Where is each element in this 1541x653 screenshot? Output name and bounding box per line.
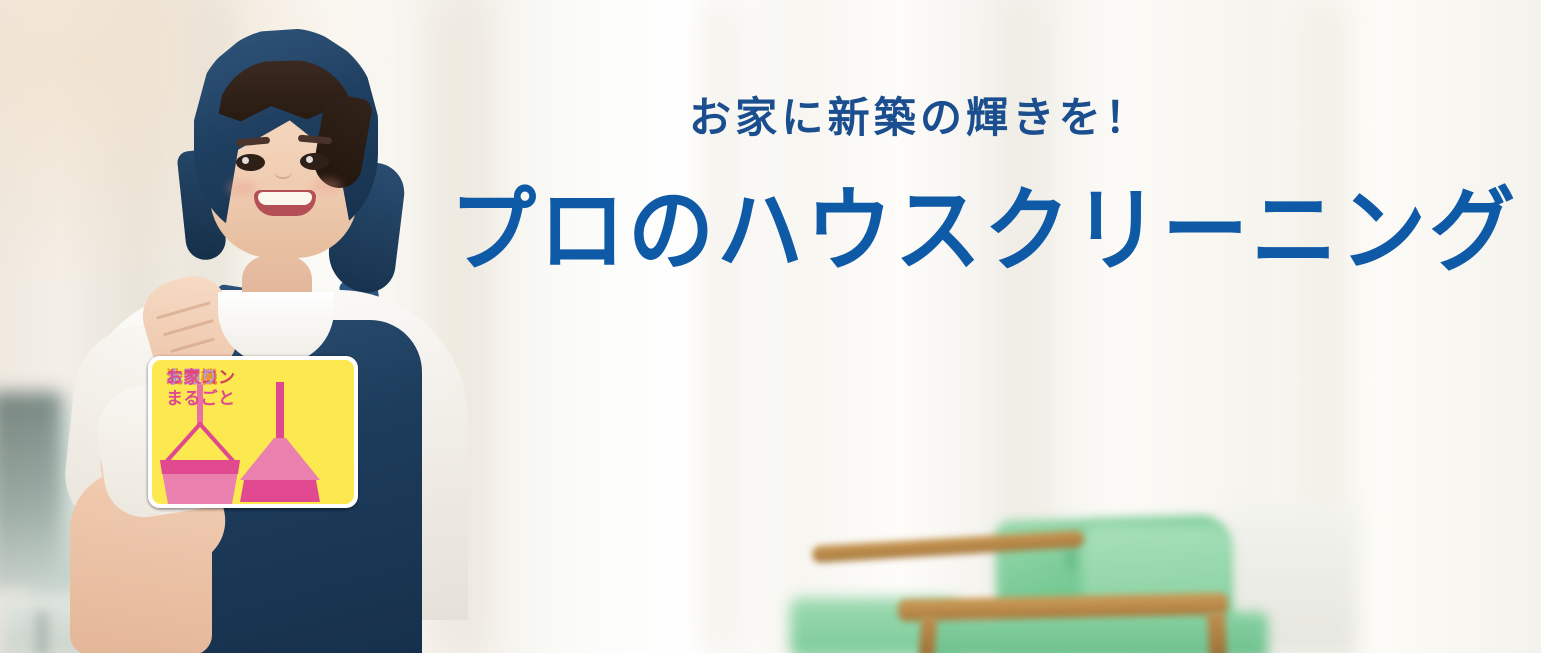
service-card-row: キッチン [148, 356, 1468, 516]
staff-eye-left [236, 154, 265, 171]
service-card-whole-house[interactable]: お家 まるごと [148, 356, 358, 508]
armchair-leg-left [919, 615, 938, 653]
staff-eye-right [300, 153, 329, 170]
hero-subtitle: お家に新築の輝きを！ [470, 84, 1370, 145]
hero-title: プロのハウスクリーニング [450, 156, 1390, 290]
background-tv [0, 392, 62, 592]
service-card-label: お家 まるごと [166, 368, 235, 409]
armchair-leg-right [1207, 612, 1227, 653]
staff-mouth [254, 190, 316, 216]
background-table-leg [36, 612, 48, 653]
staff-photo-cutout [60, 0, 480, 653]
hero-banner: お家に新築の輝きを！ プロのハウスクリーニング キッチン [0, 0, 1541, 653]
